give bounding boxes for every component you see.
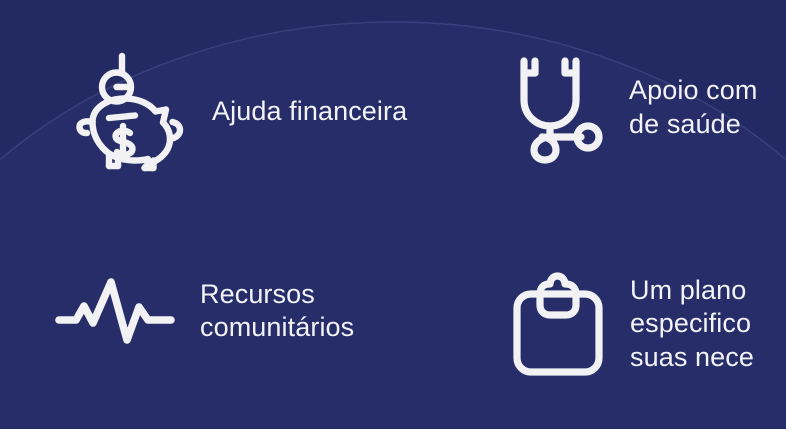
feature-label-financial-aid: Ajuda financeira	[212, 95, 407, 128]
feature-item-health-care-support: Apoio com de saúde	[500, 0, 786, 237]
feature-label-community-resources: Recursos comunitários	[200, 278, 354, 345]
feature-item-financial-aid: Ajuda financeira	[0, 0, 500, 237]
benefits-slide: Ajuda financeira	[0, 0, 786, 429]
feature-item-personalized-plan: Um plano especifico suas nece	[500, 237, 786, 429]
piggy-bank-icon	[56, 46, 188, 178]
heartbeat-pulse-icon	[56, 275, 174, 347]
feature-label-health-care-support: Apoio com de saúde	[629, 74, 757, 141]
feature-item-community-resources: Recursos comunitários	[0, 237, 500, 429]
stethoscope-icon	[508, 53, 608, 163]
feature-grid: Ajuda financeira	[0, 0, 786, 429]
clipboard-icon	[508, 272, 608, 377]
feature-label-personalized-plan: Um plano especifico suas nece	[630, 274, 754, 374]
